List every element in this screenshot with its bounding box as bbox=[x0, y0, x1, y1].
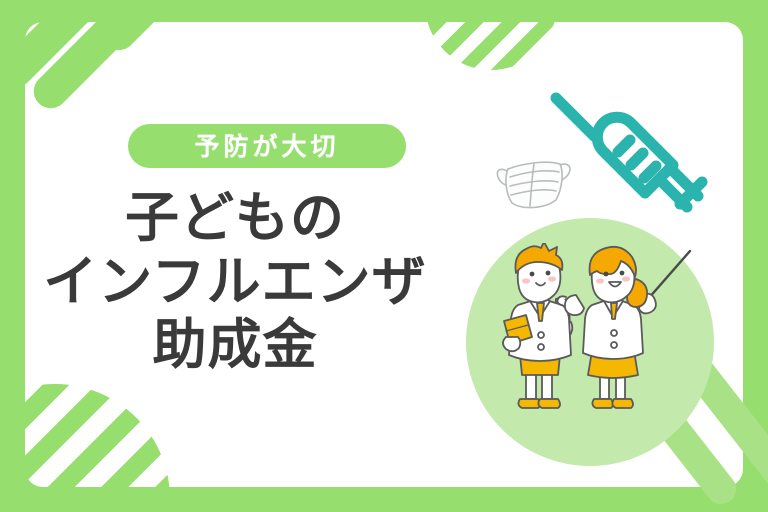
text-content: 予防が大切 子どもの インフルエンザ 助成金 bbox=[0, 0, 440, 512]
influenza-subsidy-banner: 予防が大切 子どもの インフルエンザ 助成金 bbox=[0, 0, 768, 512]
badge-label: 予防が大切 bbox=[194, 134, 339, 159]
status-badge: 予防が大切 bbox=[128, 124, 406, 168]
title-line-1: 子どもの bbox=[0, 186, 470, 250]
title-line-2: インフルエンザ bbox=[0, 250, 470, 314]
title-line-3: 助成金 bbox=[0, 313, 470, 377]
page-title: 子どもの インフルエンザ 助成金 bbox=[0, 186, 470, 377]
